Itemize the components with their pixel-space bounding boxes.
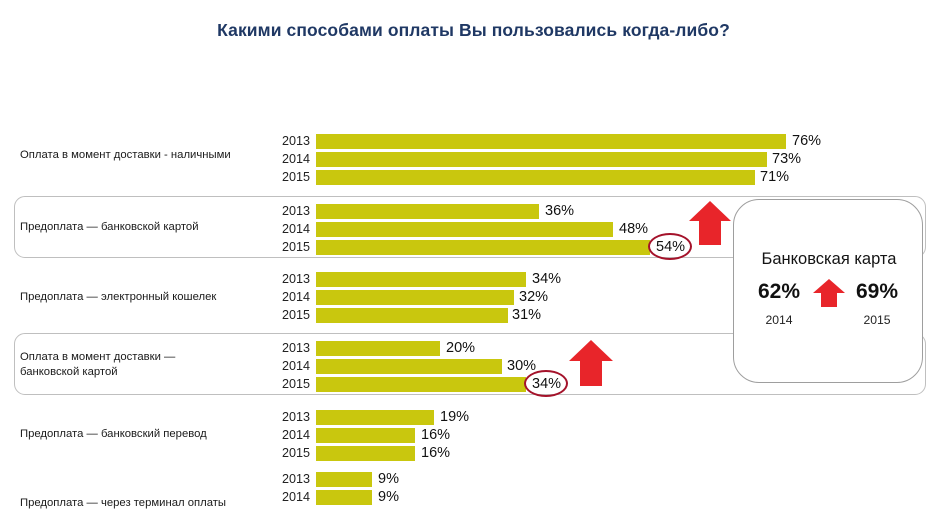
bar — [316, 341, 440, 356]
callout-year-2014: 2014 — [748, 313, 810, 327]
arrow-up-icon-delivery-bankcard — [568, 338, 614, 393]
row-year-label: 2014 — [276, 221, 310, 237]
bar — [316, 134, 786, 149]
bar-value-label: 34% — [532, 271, 561, 287]
bar — [316, 472, 372, 487]
bar-value-label: 48% — [619, 221, 648, 237]
row-year-label: 2013 — [276, 409, 310, 425]
row-year-label: 2015 — [276, 239, 310, 255]
bar-value-label: 76% — [792, 133, 821, 149]
bar — [316, 272, 526, 287]
arrow-up-icon-prepay-bankcard — [688, 199, 732, 252]
callout-year-2015: 2015 — [846, 313, 908, 327]
category-label-delivery-bankcard: Оплата в момент доставки — банковской ка… — [20, 350, 272, 380]
bar-value-label: 16% — [421, 427, 450, 443]
bar — [316, 222, 613, 237]
category-label-bank-transfer: Предоплата — банковский перевод — [20, 427, 272, 442]
bar — [316, 428, 415, 443]
row-year-label: 2015 — [276, 307, 310, 323]
callout-title: Банковская карта — [734, 250, 924, 269]
row-year-label: 2014 — [276, 289, 310, 305]
bar-value-label: 16% — [421, 445, 450, 461]
row-year-label: 2013 — [276, 133, 310, 149]
bar-value-label: 71% — [760, 169, 789, 185]
bar-value-label: 34% — [532, 376, 561, 392]
row-year-label: 2014 — [276, 427, 310, 443]
bar-value-label: 9% — [378, 471, 399, 487]
bar-value-label: 20% — [446, 340, 475, 356]
row-year-label: 2015 — [276, 376, 310, 392]
category-label-line1: Оплата в момент доставки — — [20, 350, 272, 365]
bar-value-label: 36% — [545, 203, 574, 219]
bar-value-label: 54% — [656, 239, 685, 255]
bar — [316, 240, 650, 255]
category-label-payment-terminal: Предоплата — через терминал оплаты — [20, 496, 272, 511]
arrow-up-icon-callout — [812, 278, 846, 313]
bar-value-label: 32% — [519, 289, 548, 305]
bar — [316, 290, 514, 305]
bar — [316, 359, 502, 374]
bar — [316, 446, 415, 461]
bar-value-label: 31% — [512, 307, 541, 323]
bar — [316, 377, 526, 392]
bar — [316, 204, 539, 219]
category-label-line2: банковской картой — [20, 365, 272, 380]
chart-root: Какими способами оплаты Вы пользовались … — [0, 0, 947, 507]
callout-value-2015: 69% — [846, 280, 908, 304]
bar-value-label: 19% — [440, 409, 469, 425]
row-year-label: 2014 — [276, 358, 310, 374]
row-year-label: 2013 — [276, 340, 310, 356]
callout-card-bankcard: Банковская карта 62% 69% 2014 2015 — [733, 199, 923, 383]
row-year-label: 2013 — [276, 471, 310, 487]
row-year-label: 2014 — [276, 489, 310, 505]
callout-value-2014: 62% — [748, 280, 810, 304]
bar — [316, 170, 755, 185]
row-year-label: 2013 — [276, 203, 310, 219]
row-year-label: 2014 — [276, 151, 310, 167]
category-label-ewallet: Предоплата — электронный кошелек — [20, 290, 272, 305]
bar-value-label: 9% — [378, 489, 399, 505]
row-year-label: 2013 — [276, 271, 310, 287]
category-label-prepay-bankcard: Предоплата — банковской картой — [20, 220, 272, 235]
row-year-label: 2015 — [276, 445, 310, 461]
bar-value-label: 73% — [772, 151, 801, 167]
bar — [316, 308, 508, 323]
category-label-cash-on-delivery: Оплата в момент доставки - наличными — [20, 148, 272, 163]
bar — [316, 152, 767, 167]
row-year-label: 2015 — [276, 169, 310, 185]
bar — [316, 490, 372, 505]
bar — [316, 410, 434, 425]
bar-value-label: 30% — [507, 358, 536, 374]
